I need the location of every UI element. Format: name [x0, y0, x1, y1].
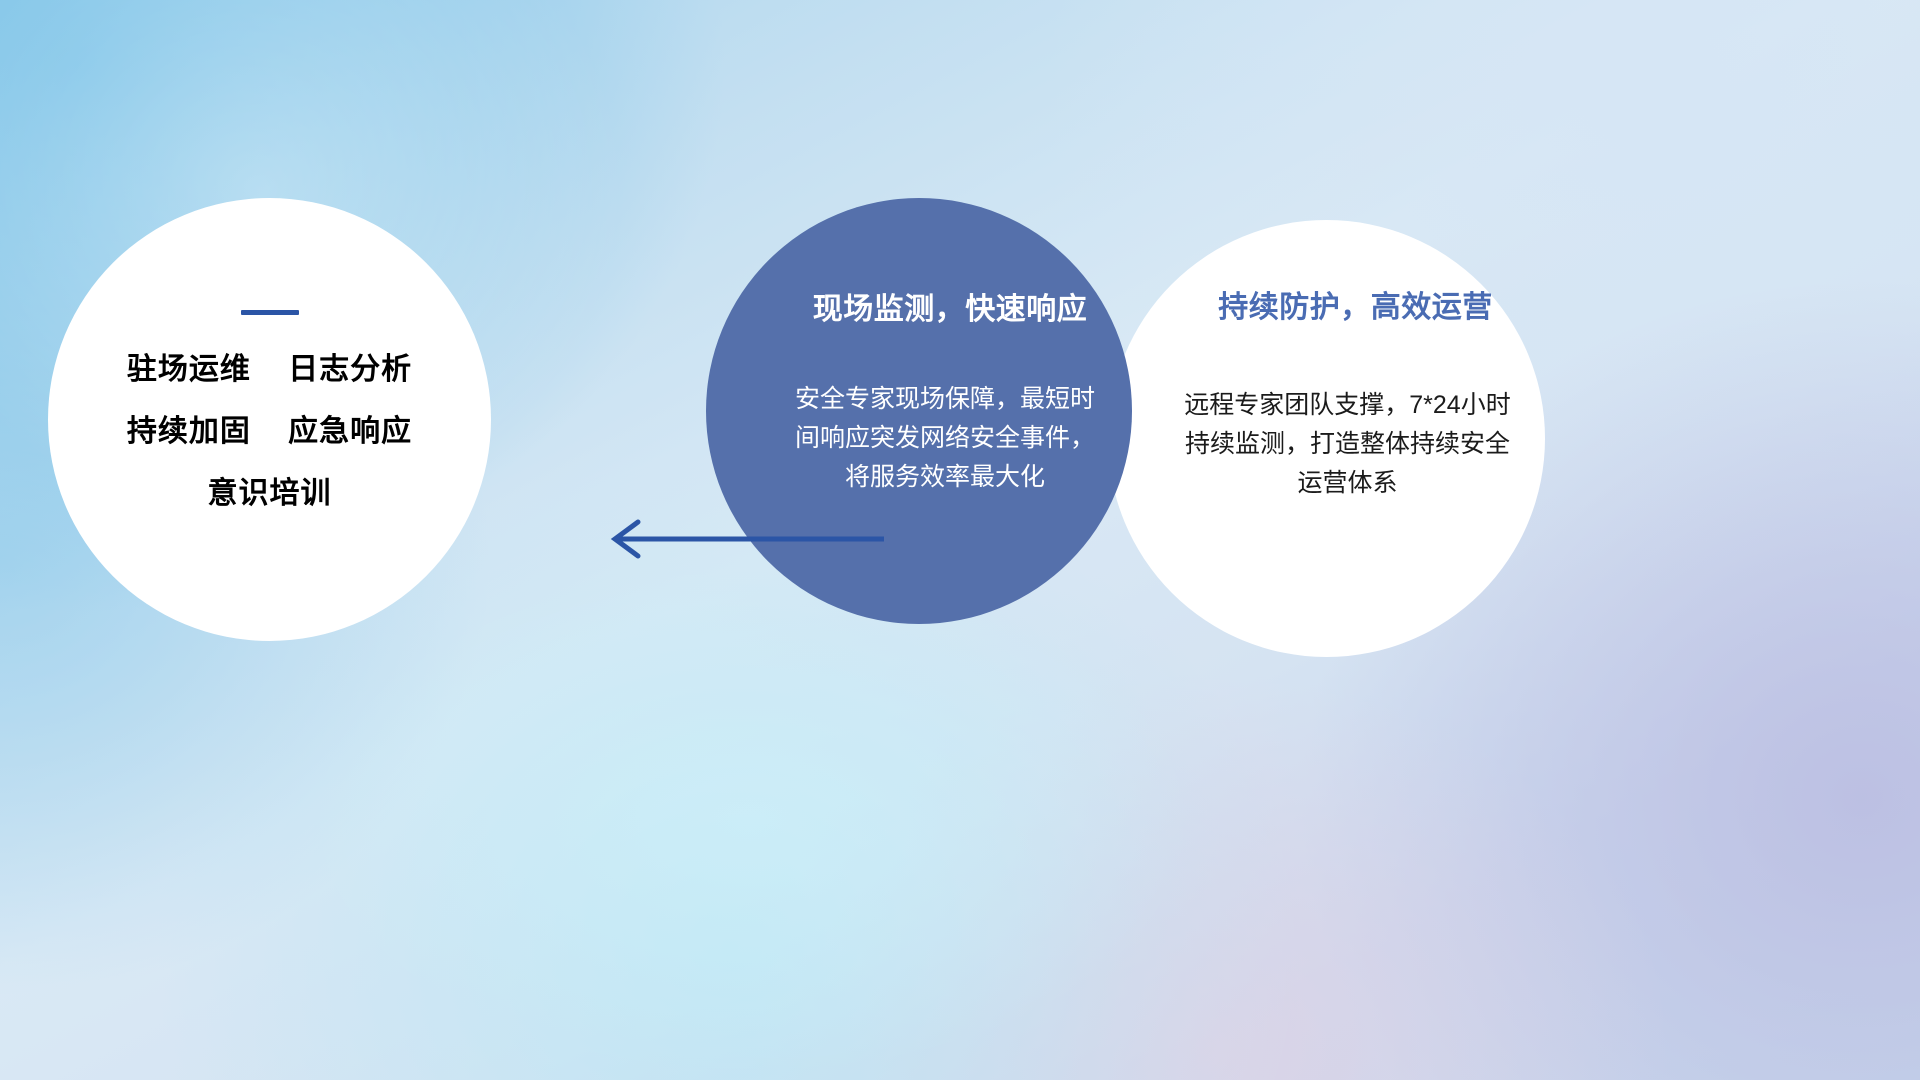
right-circle-title: 持续防护，高效运营 — [1218, 290, 1493, 326]
middle-circle-body: 安全专家现场保障，最短时间响应突发网络安全事件，将服务效率最大化 — [795, 380, 1095, 496]
left-circle-line-2: 持续加固 应急响应 — [127, 417, 412, 447]
middle-circle-content: 现场监测，快速响应 安全专家现场保障，最短时间响应突发网络安全事件，将服务效率最… — [706, 198, 1132, 624]
middle-circle-title: 现场监测，快速响应 — [813, 292, 1088, 328]
divider-dash-icon — [241, 310, 299, 315]
left-circle-content: 驻场运维 日志分析 持续加固 应急响应 意识培训 — [48, 198, 491, 641]
right-circle-content: 持续防护，高效运营 远程专家团队支撑，7*24小时持续监测，打造整体持续安全运营… — [1108, 220, 1545, 657]
right-circle-body: 远程专家团队支撑，7*24小时持续监测，打造整体持续安全运营体系 — [1174, 386, 1522, 502]
left-circle-line-1: 驻场运维 日志分析 — [127, 355, 412, 385]
left-circle-line-3: 意识培训 — [208, 479, 332, 509]
